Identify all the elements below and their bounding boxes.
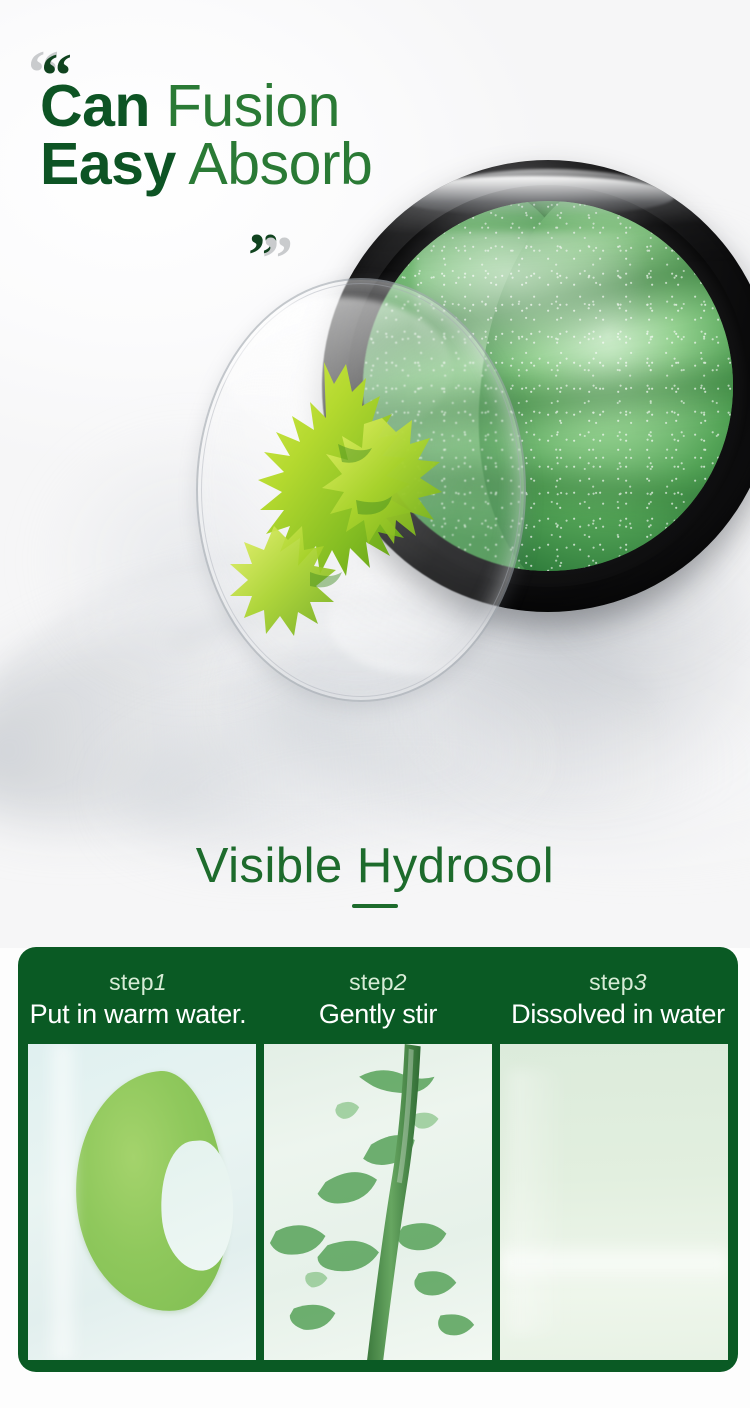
headline-line-2: Easy Absorb [40, 136, 460, 194]
product-marketing-page: “ “ Can Fusion Easy Absorb ” ” Visible H… [0, 0, 750, 1408]
step-label-3: step3 Dissolved in water [498, 969, 738, 1030]
quote-open-main: “ [41, 45, 72, 107]
hero-product-photo: “ “ Can Fusion Easy Absorb ” ” [0, 0, 750, 948]
step-index-3: 3 [634, 969, 647, 995]
step-word-1: step [109, 969, 154, 995]
step-photo-3 [500, 1044, 728, 1360]
step-number-1: step1 [22, 969, 254, 996]
step-word-2: step [349, 969, 394, 995]
headline-line2-strong: Easy [40, 131, 176, 197]
steps-labels-row: step1 Put in warm water. step2 Gently st… [18, 947, 738, 1044]
step-word-3: step [589, 969, 634, 995]
step-label-1: step1 Put in warm water. [18, 969, 258, 1030]
step-photo-1 [28, 1044, 256, 1360]
step-number-2: step2 [262, 969, 494, 996]
section-title-divider [352, 904, 398, 908]
step-text-2: Gently stir [262, 999, 494, 1030]
headline: Can Fusion Easy Absorb [40, 78, 460, 194]
step-index-2: 2 [394, 969, 407, 995]
green-eye-patch-shape [68, 1067, 235, 1317]
section-title: Visible Hydrosol [0, 838, 750, 894]
quote-close-shadow: ” [262, 228, 293, 290]
step-label-2: step2 Gently stir [258, 969, 498, 1030]
step-index-1: 1 [154, 969, 167, 995]
headline-line1-light: Fusion [150, 73, 340, 139]
steps-panel: step1 Put in warm water. step2 Gently st… [18, 947, 738, 1372]
section-title-block: Visible Hydrosol [0, 838, 750, 908]
step-text-1: Put in warm water. [22, 999, 254, 1030]
step-photo-2 [264, 1044, 492, 1360]
headline-line2-light: Absorb [176, 131, 373, 197]
step-number-3: step3 [502, 969, 734, 996]
step-text-3: Dissolved in water [502, 999, 734, 1030]
headline-line-1: Can Fusion [40, 78, 460, 136]
seaweed-ingredient [206, 340, 526, 690]
steps-photos-row [18, 1044, 738, 1372]
